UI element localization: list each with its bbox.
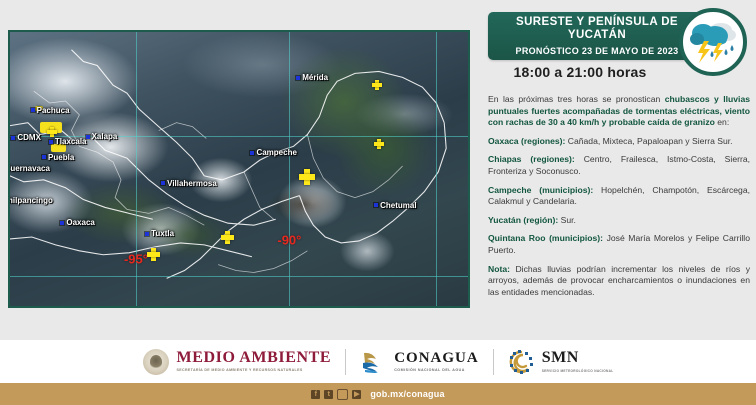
forecast-body: En las próximas tres horas se pronostica… bbox=[488, 94, 750, 305]
medio-ambiente-title: MEDIO AMBIENTE bbox=[177, 350, 332, 366]
logo-medio-ambiente: MEDIO AMBIENTE SECRETARÍA DE MEDIO AMBIE… bbox=[143, 349, 332, 375]
city-name: Tuxtla bbox=[151, 229, 174, 238]
storm-marker bbox=[374, 139, 384, 149]
region-entry-chiapas: Chiapas (regiones): Centro, Frailesca, I… bbox=[488, 154, 750, 177]
forecast-banner: SURESTE Y PENÍNSULA DE YUCATÁN PRONÓSTIC… bbox=[488, 12, 706, 60]
conagua-text: CONAGUA COMISIÓN NACIONAL DEL AGUA bbox=[394, 351, 479, 373]
storm-marker bbox=[372, 80, 382, 90]
city-label-campeche: Campeche bbox=[250, 148, 296, 157]
note-text: Dichas lluvias podrían incrementar los n… bbox=[488, 264, 750, 297]
grid-line-longitude-2 bbox=[289, 32, 290, 306]
city-name: CDMX bbox=[17, 133, 41, 142]
city-dot bbox=[42, 155, 46, 159]
region-label: Yucatán (región): bbox=[488, 215, 558, 225]
region-entry-campeche: Campeche (municipios): Hopelchén, Champo… bbox=[488, 185, 750, 208]
region-entry-oaxaca: Oaxaca (regiones): Cañada, Mixteca, Papa… bbox=[488, 136, 750, 148]
infographic-root: -95° -90° Pachuca CDMX Tlaxcala bbox=[0, 0, 756, 405]
youtube-icon[interactable]: ▶ bbox=[352, 390, 361, 399]
forecast-note: Nota: Dichas lluvias podrían incrementar… bbox=[488, 264, 750, 299]
conagua-eagle-water-icon bbox=[360, 349, 386, 375]
storm-marker bbox=[47, 127, 57, 137]
city-dot bbox=[374, 203, 378, 207]
coord-label: -90° bbox=[277, 233, 301, 248]
city-label-tlaxcala: Tlaxcala bbox=[49, 137, 87, 146]
map-canvas: -95° -90° Pachuca CDMX Tlaxcala bbox=[10, 32, 468, 306]
city-name: Villahermosa bbox=[167, 179, 217, 188]
region-label: Oaxaca (regiones): bbox=[488, 136, 565, 146]
intro-text-1: En las próximas tres horas se pronostica… bbox=[488, 94, 665, 104]
grid-line-latitude-2 bbox=[10, 276, 468, 277]
region-value: Cañada, Mixteca, Papaloapan y Sierra Sur… bbox=[565, 136, 732, 146]
logo-divider bbox=[345, 349, 346, 375]
city-name: Chilpancingo bbox=[10, 196, 53, 205]
city-name: Mérida bbox=[302, 73, 328, 82]
forecast-hours: 18:00 a 21:00 horas bbox=[480, 64, 680, 80]
city-name: Xalapa bbox=[92, 132, 118, 141]
coastline-and-borders bbox=[10, 32, 468, 306]
city-dot bbox=[86, 135, 90, 139]
instagram-icon[interactable] bbox=[337, 389, 348, 400]
region-label: Campeche (municipios): bbox=[488, 185, 593, 195]
forecast-panel: SURESTE Y PENÍNSULA DE YUCATÁN PRONÓSTIC… bbox=[480, 0, 756, 340]
forecast-intro: En las próximas tres horas se pronostica… bbox=[488, 94, 750, 129]
conagua-subtitle: COMISIÓN NACIONAL DEL AGUA bbox=[394, 369, 479, 373]
smn-text: SMN SERVICIO METEOROLÓGICO NACIONAL bbox=[542, 350, 614, 373]
city-dot bbox=[161, 181, 165, 185]
logo-smn: SMN SERVICIO METEOROLÓGICO NACIONAL bbox=[508, 349, 614, 375]
coord-label: -95° bbox=[124, 252, 148, 267]
storm-marker bbox=[299, 169, 315, 185]
city-name: Cuernavaca bbox=[10, 164, 50, 173]
footer-social-bar: f t ▶ gob.mx/conagua bbox=[0, 383, 756, 405]
city-label-tuxtla: Tuxtla bbox=[145, 229, 174, 238]
city-label-chilpancingo: Chilpancingo bbox=[10, 196, 53, 205]
website-link[interactable]: gob.mx/conagua bbox=[370, 389, 444, 399]
note-label: Nota: bbox=[488, 264, 510, 274]
mexican-eagle-seal-icon bbox=[143, 349, 169, 375]
storm-marker bbox=[147, 248, 160, 261]
grid-line-longitude-3 bbox=[436, 32, 437, 306]
thunderstorm-cloud-icon bbox=[688, 19, 738, 65]
city-name: Chetumal bbox=[380, 201, 416, 210]
medio-ambiente-subtitle: SECRETARÍA DE MEDIO AMBIENTE Y RECURSOS … bbox=[177, 369, 332, 373]
footer-logos: MEDIO AMBIENTE SECRETARÍA DE MEDIO AMBIE… bbox=[0, 340, 756, 383]
city-label-chetumal: Chetumal bbox=[374, 201, 416, 210]
city-label-pachuca: Pachuca bbox=[31, 106, 70, 115]
region-label: Chiapas (regiones): bbox=[488, 154, 575, 164]
smn-title: SMN bbox=[542, 350, 614, 366]
twitter-icon[interactable]: t bbox=[324, 390, 333, 399]
weather-badge bbox=[679, 8, 747, 76]
satellite-map[interactable]: -95° -90° Pachuca CDMX Tlaxcala bbox=[8, 30, 470, 308]
city-name: Puebla bbox=[48, 153, 74, 162]
logo-conagua: CONAGUA COMISIÓN NACIONAL DEL AGUA bbox=[360, 349, 479, 375]
city-label-puebla: Puebla bbox=[42, 153, 74, 162]
city-dot bbox=[296, 76, 300, 80]
forecast-date: PRONÓSTICO 23 DE MAYO DE 2023 bbox=[516, 46, 679, 56]
city-dot bbox=[145, 232, 149, 236]
city-name: Campeche bbox=[256, 148, 296, 157]
city-label-villahermosa: Villahermosa bbox=[161, 179, 217, 188]
city-name: Oaxaca bbox=[66, 218, 94, 227]
storm-marker bbox=[221, 231, 234, 244]
intro-text-2: en: bbox=[715, 117, 729, 127]
city-name: Tlaxcala bbox=[55, 137, 87, 146]
city-dot bbox=[11, 136, 15, 140]
region-value: Sur. bbox=[558, 215, 576, 225]
city-label-merida: Mérida bbox=[296, 73, 328, 82]
logo-divider bbox=[493, 349, 494, 375]
city-label-xalapa: Xalapa bbox=[86, 132, 118, 141]
page-title: SURESTE Y PENÍNSULA DE YUCATÁN bbox=[488, 16, 706, 42]
city-dot bbox=[60, 221, 64, 225]
city-name: Pachuca bbox=[37, 106, 70, 115]
smn-spiral-icon bbox=[508, 349, 534, 375]
city-label-oaxaca: Oaxaca bbox=[60, 218, 94, 227]
medio-ambiente-text: MEDIO AMBIENTE SECRETARÍA DE MEDIO AMBIE… bbox=[177, 350, 332, 373]
city-dot bbox=[250, 151, 254, 155]
facebook-icon[interactable]: f bbox=[311, 390, 320, 399]
region-label: Quintana Roo (municipios): bbox=[488, 233, 603, 243]
smn-subtitle: SERVICIO METEOROLÓGICO NACIONAL bbox=[542, 369, 614, 373]
city-label-cdmx: CDMX bbox=[11, 133, 41, 142]
city-label-cuernavaca: Cuernavaca bbox=[10, 164, 50, 173]
region-entry-quintana-roo: Quintana Roo (municipios): José María Mo… bbox=[488, 233, 750, 256]
city-dot bbox=[49, 140, 53, 144]
region-entry-yucatan: Yucatán (región): Sur. bbox=[488, 215, 750, 227]
conagua-title: CONAGUA bbox=[394, 351, 479, 366]
city-dot bbox=[31, 108, 35, 112]
